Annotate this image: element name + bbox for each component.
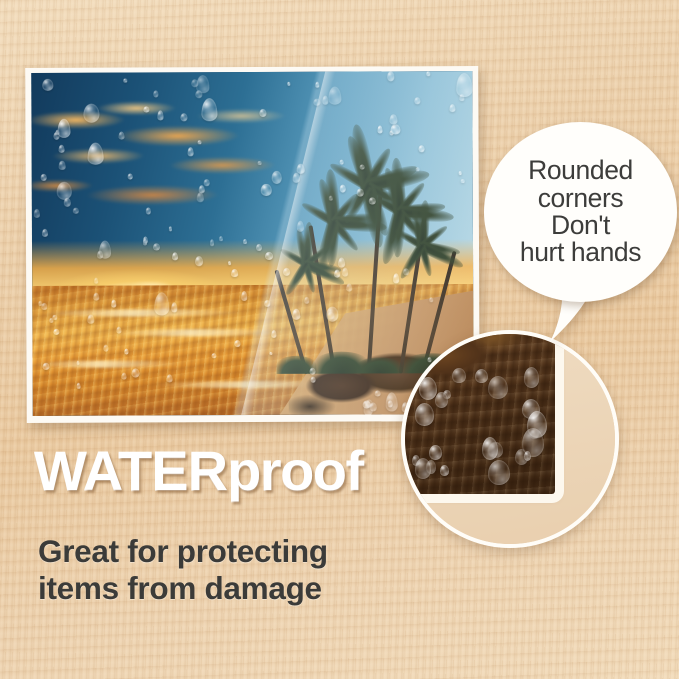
rounded-corner-magnifier xyxy=(401,330,619,548)
magnifier-background xyxy=(405,334,615,544)
palm-tree-group xyxy=(269,85,473,374)
marketing-image-canvas: Rounded corners Don't hurt hands WATERpr… xyxy=(0,0,679,679)
shore-foliage xyxy=(357,357,403,373)
headline-proof: proof xyxy=(227,439,363,502)
callout-text: Rounded corners Don't hurt hands xyxy=(484,157,677,266)
shore-foliage xyxy=(277,356,317,374)
rounded-corners-callout: Rounded corners Don't hurt hands xyxy=(484,122,677,302)
page-title: WATERproof xyxy=(34,443,363,499)
headline-water: WATER xyxy=(34,439,227,502)
tagline-text: Great for protecting items from damage xyxy=(38,533,418,607)
